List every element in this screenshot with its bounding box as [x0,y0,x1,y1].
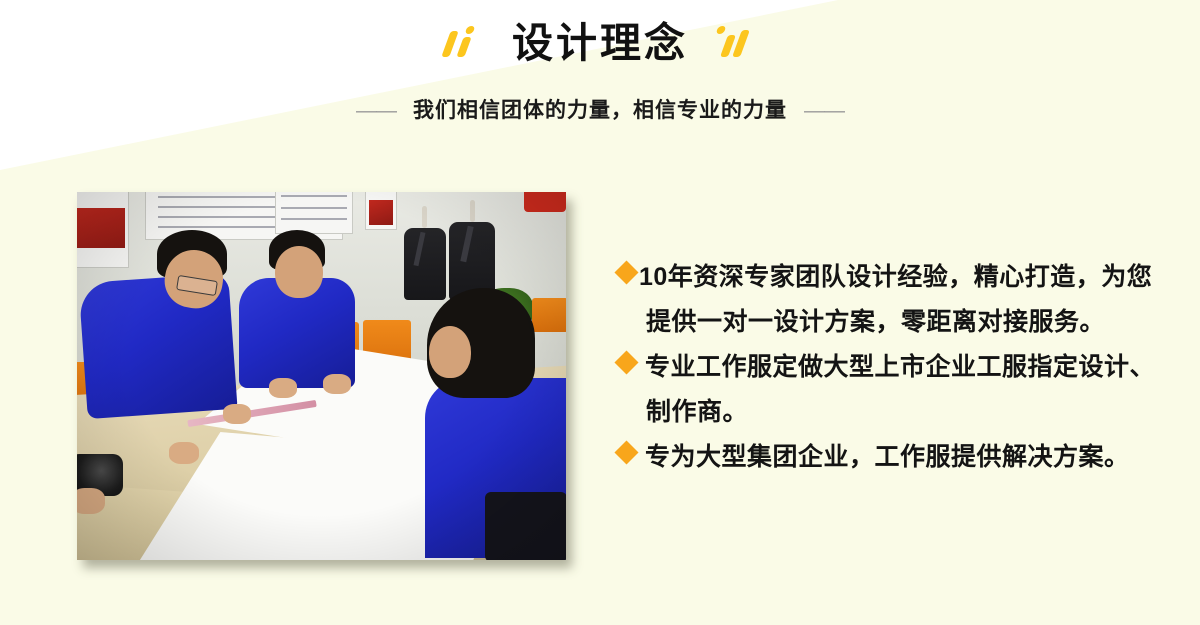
slash-ornament-left-icon [444,22,486,64]
feature-item-1-line-1: 10年资深专家团队设计经验，精心打造，为您 [639,255,1152,300]
feature-list: 10年资深专家团队设计经验，精心打造，为您 提供一对一设计方案，零距离对接服务。… [618,255,1178,480]
feature-item-3: 专为大型集团企业，工作服提供解决方案。 [618,435,1178,480]
feature-item-2-line-1: 专业工作服定做大型上市企业工服指定设计、 [645,345,1155,390]
subtitle-row: —— 我们相信团体的力量，相信专业的力量 —— [0,96,1200,126]
page-title: 设计理念 [512,18,688,68]
feature-item-2-line-2: 制作商。 [646,390,748,435]
diamond-bullet-icon [614,260,638,284]
feature-item-3-line-1: 专为大型集团企业，工作服提供解决方案。 [645,435,1130,480]
title-row: 设计理念 [0,18,1200,68]
feature-item-2: 专业工作服定做大型上市企业工服指定设计、 [618,345,1178,390]
diamond-bullet-icon [614,350,638,374]
feature-item-1: 10年资深专家团队设计经验，精心打造，为您 [618,255,1178,300]
page-subtitle: 我们相信团体的力量，相信专业的力量 [413,96,787,126]
subtitle-dash-right: —— [804,97,844,125]
subtitle-dash-left: —— [356,97,396,125]
feature-item-1-continuation: 提供一对一设计方案，零距离对接服务。 [618,300,1178,345]
feature-item-1-line-2: 提供一对一设计方案，零距离对接服务。 [646,300,1105,345]
team-photo-scene [77,192,566,560]
diamond-bullet-icon [614,440,638,464]
team-photo [77,192,566,560]
header-section: 设计理念 —— 我们相信团体的力量，相信专业的力量 —— [0,0,1200,150]
feature-item-2-continuation: 制作商。 [618,390,1178,435]
slash-ornament-right-icon [714,22,756,64]
promo-banner: 设计理念 —— 我们相信团体的力量，相信专业的力量 —— [0,0,1200,625]
photo-vignette [77,192,566,560]
